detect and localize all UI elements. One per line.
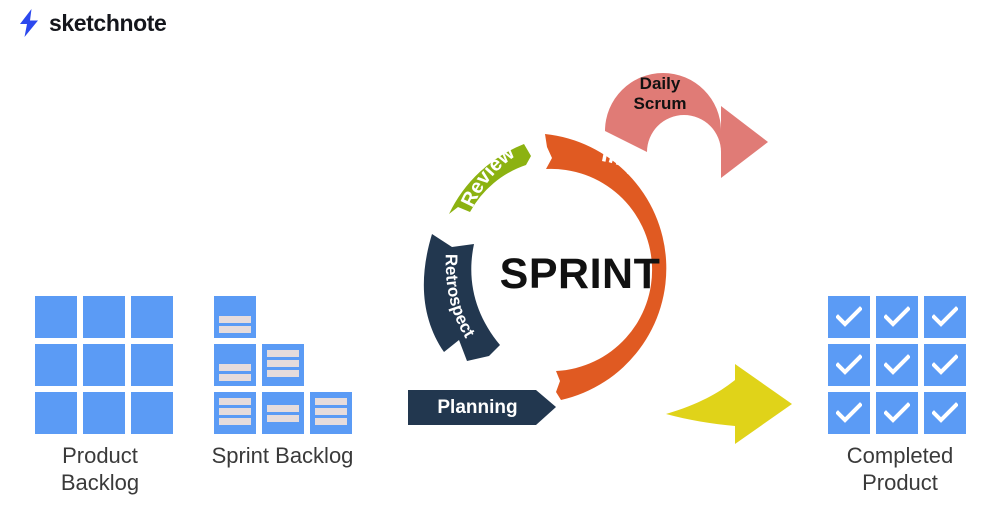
brand-name: sketchnote — [49, 12, 166, 35]
backlog-item — [35, 392, 77, 434]
sprint-backlog-stack — [214, 296, 374, 436]
output-arrow — [666, 364, 792, 444]
card-line — [315, 398, 347, 405]
card-line — [315, 408, 347, 415]
completed-item — [828, 344, 870, 386]
sprint-backlog-card — [262, 344, 304, 386]
completed-item — [876, 392, 918, 434]
backlog-item — [35, 344, 77, 386]
card-line — [219, 418, 251, 425]
backlog-item — [131, 344, 173, 386]
check-icon — [884, 354, 910, 376]
sprint-backlog-card — [310, 392, 352, 434]
card-line — [219, 398, 251, 405]
backlog-item — [35, 296, 77, 338]
review-label: Review — [457, 142, 519, 211]
lightning-bolt-icon — [18, 9, 40, 37]
check-icon — [836, 354, 862, 376]
completed-item — [828, 296, 870, 338]
card-line — [267, 360, 299, 367]
completed-item — [876, 344, 918, 386]
completed-item — [924, 344, 966, 386]
card-line — [267, 415, 299, 422]
backlog-item — [83, 344, 125, 386]
review-segment: Review — [449, 142, 531, 214]
check-icon — [836, 402, 862, 424]
sprint-backlog-label: Sprint Backlog — [175, 443, 390, 470]
card-line — [219, 364, 251, 371]
card-line — [267, 370, 299, 377]
product-backlog-label: Product Backlog — [10, 443, 190, 497]
card-line — [267, 350, 299, 357]
card-line — [219, 374, 251, 381]
completed-product-label: Completed Product — [800, 443, 1000, 497]
completed-item — [924, 296, 966, 338]
backlog-item — [83, 296, 125, 338]
check-icon — [932, 306, 958, 328]
product-backlog-grid — [35, 296, 173, 434]
completed-item — [876, 296, 918, 338]
check-icon — [884, 402, 910, 424]
check-icon — [932, 354, 958, 376]
backlog-item — [131, 296, 173, 338]
retrospect-label: Retrospect — [442, 254, 479, 341]
card-line — [219, 326, 251, 333]
brand-logo[interactable]: sketchnote — [18, 6, 166, 40]
sprint-backlog-card — [214, 392, 256, 434]
card-line — [267, 405, 299, 412]
check-icon — [932, 402, 958, 424]
card-line — [219, 316, 251, 323]
completed-item — [828, 392, 870, 434]
backlog-item — [83, 392, 125, 434]
sprint-backlog-card — [214, 296, 256, 338]
backlog-item — [131, 392, 173, 434]
card-line — [219, 408, 251, 415]
planning-label: Planning — [415, 397, 540, 419]
sprint-title: SPRINT — [480, 250, 680, 299]
check-icon — [836, 306, 862, 328]
completed-item — [924, 392, 966, 434]
sprint-backlog-card — [214, 344, 256, 386]
card-line — [315, 418, 347, 425]
sprint-backlog-card — [262, 392, 304, 434]
diagram-canvas: sketchnote Product Backlog — [0, 0, 1000, 525]
check-icon — [884, 306, 910, 328]
completed-product-grid — [828, 296, 966, 434]
daily-scrum-label: Daily Scrum — [605, 74, 715, 113]
